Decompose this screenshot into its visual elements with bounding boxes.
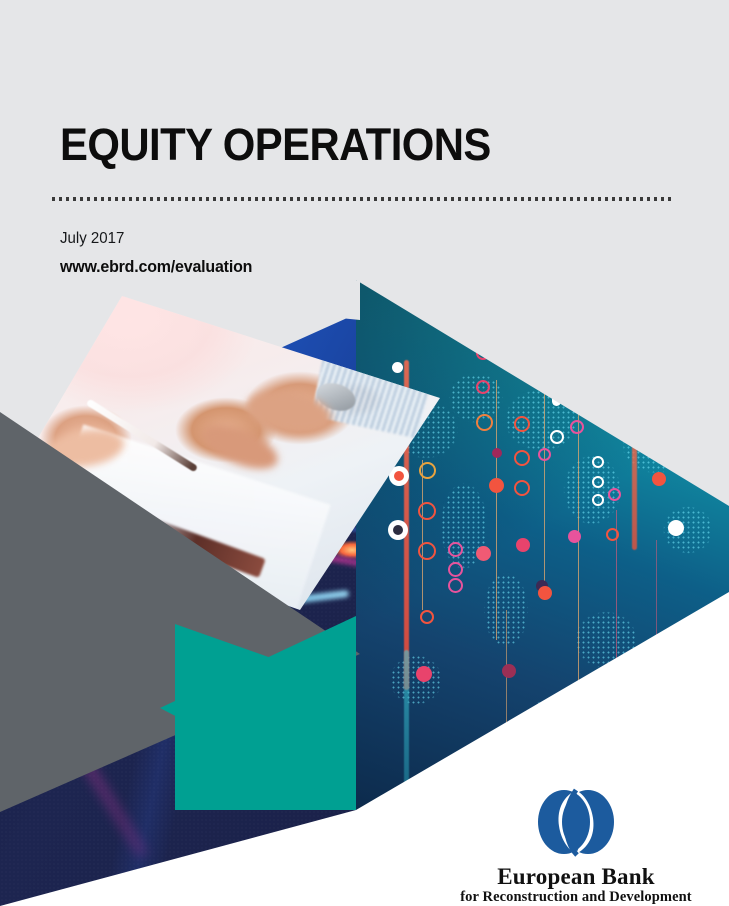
website-url[interactable]: www.ebrd.com/evaluation	[60, 255, 252, 279]
metadata-block: July 2017 www.ebrd.com/evaluation	[60, 228, 264, 279]
ebrd-logo: European Bank for Reconstruction and Dev…	[456, 786, 696, 906]
dotted-divider	[52, 197, 672, 201]
report-cover-page: EQUITY OPERATIONS July 2017 www.ebrd.com…	[0, 0, 729, 906]
logo-text-line-2: for Reconstruction and Development	[456, 889, 696, 906]
page-title: EQUITY OPERATIONS	[60, 118, 637, 172]
logo-text-line-1: European Bank	[456, 864, 696, 889]
publication-date: July 2017	[60, 228, 252, 250]
title-block: EQUITY OPERATIONS	[60, 118, 680, 172]
ebrd-interlocking-circles-icon	[535, 786, 617, 858]
